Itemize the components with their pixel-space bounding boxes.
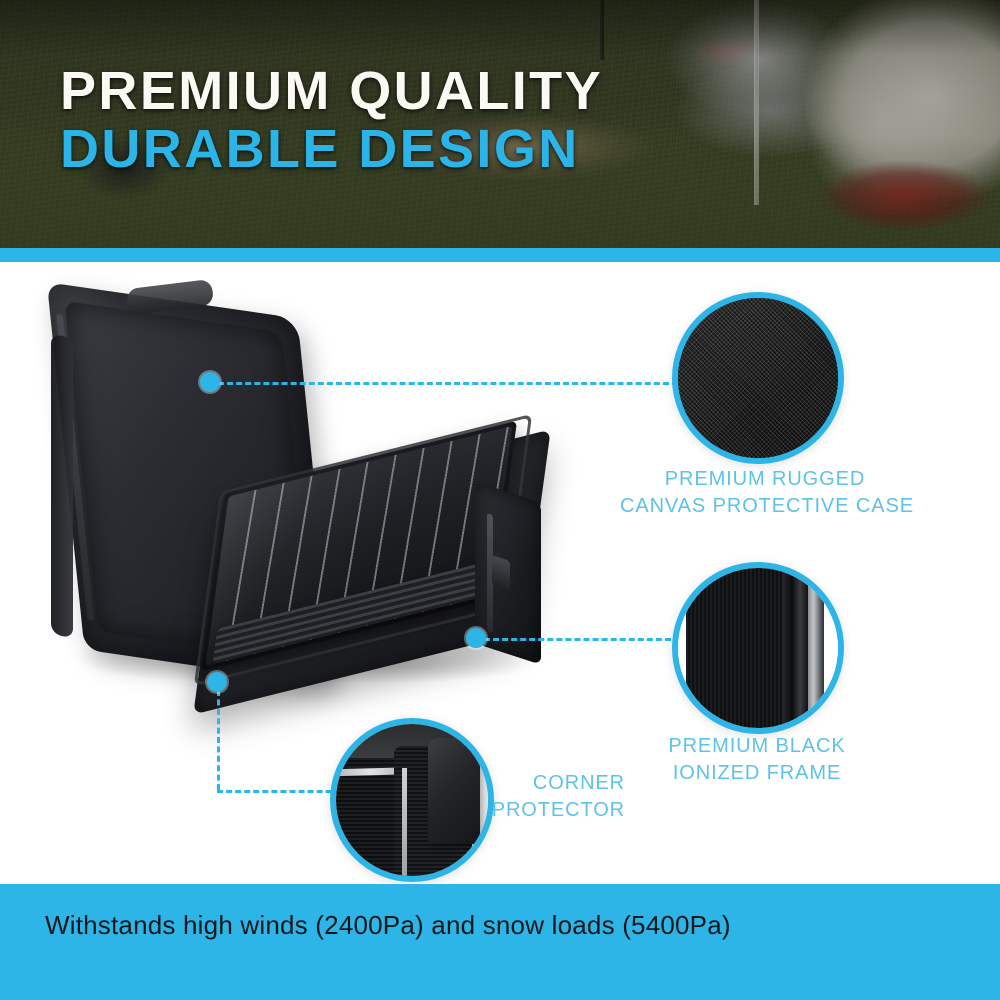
hero-title: PREMIUM QUALITY DURABLE DESIGN	[60, 62, 603, 178]
callout-frame-line1: PREMIUM BLACK	[662, 733, 852, 760]
case-lid-edge	[51, 333, 73, 638]
cyan-divider-bar	[0, 248, 1000, 262]
callout-label-corner-protector: CORNER PROTECTOR	[470, 770, 625, 824]
callout-label-canvas-case: PREMIUM RUGGED CANVAS PROTECTIVE CASE	[620, 466, 910, 520]
spec-banner-text: Withstands high winds (2400Pa) and snow …	[45, 910, 731, 941]
product-illustration	[55, 292, 555, 732]
anchor-dot-frame	[466, 628, 486, 648]
callout-corner-line2: PROTECTOR	[470, 797, 625, 824]
callout-frame-line2: IONIZED FRAME	[662, 760, 852, 787]
headline-primary: PREMIUM QUALITY	[60, 62, 603, 120]
infographic-page: PREMIUM QUALITY DURABLE DESIGN	[0, 0, 1000, 1000]
corner-support-rod	[402, 768, 407, 882]
leader-line-frame	[484, 638, 680, 641]
frame-ribbed-face	[686, 568, 782, 728]
callout-label-ionized-frame: PREMIUM BLACK IONIZED FRAME	[662, 733, 852, 787]
callout-canvas-line2: CANVAS PROTECTIVE CASE	[620, 493, 910, 520]
anchor-dot-corner	[207, 672, 227, 692]
bottom-spec-banner: Withstands high winds (2400Pa) and snow …	[0, 884, 1000, 1000]
leader-line-canvas	[218, 382, 678, 385]
frame-dark-edge	[782, 568, 808, 728]
frame-metal-highlight	[808, 568, 824, 728]
headline-secondary: DURABLE DESIGN	[60, 120, 603, 178]
hero-photo-banner: PREMIUM QUALITY DURABLE DESIGN	[0, 0, 1000, 248]
case-latch	[492, 555, 510, 591]
product-detail-board: PREMIUM RUGGED CANVAS PROTECTIVE CASE PR…	[0, 262, 1000, 884]
anchor-dot-canvas	[200, 372, 220, 392]
detail-circle-canvas-case	[672, 292, 844, 464]
canvas-texture-swatch	[678, 298, 838, 458]
leader-line-corner-vertical	[217, 690, 220, 790]
detail-circle-ionized-frame	[672, 562, 844, 734]
callout-canvas-line1: PREMIUM RUGGED	[620, 466, 910, 493]
callout-corner-line1: CORNER	[470, 770, 625, 797]
